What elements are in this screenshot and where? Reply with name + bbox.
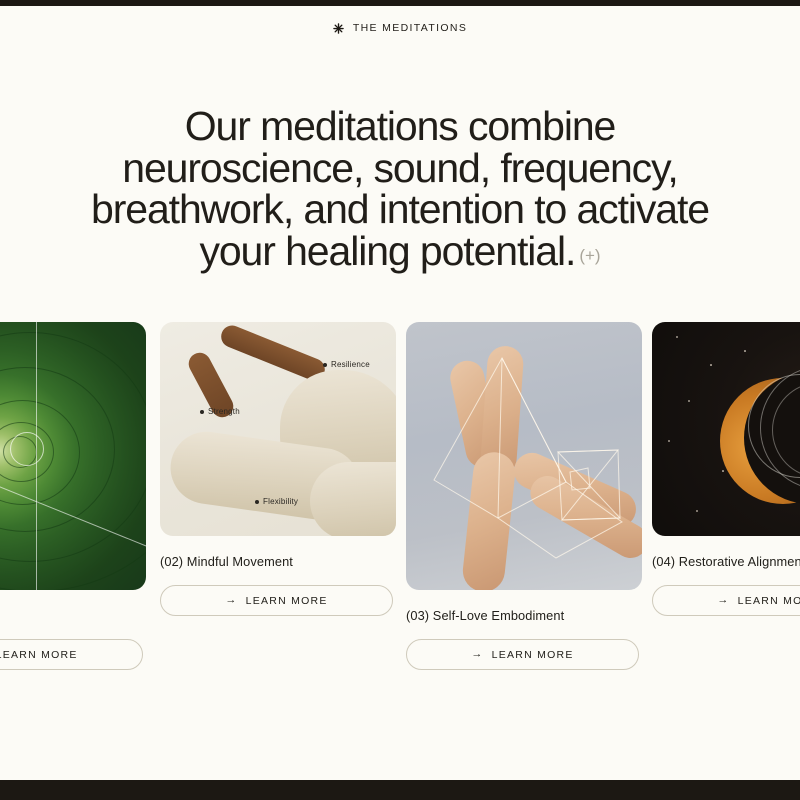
learn-more-button[interactable]: → LEARN MORE [652, 585, 800, 616]
learn-more-label: LEARN MORE [738, 595, 800, 607]
pin-strength: Strength [200, 407, 240, 416]
meditation-card-rail[interactable]: Nourishment → LEARN MORE Resilience [0, 322, 800, 702]
pin-dot-icon [200, 410, 204, 414]
pin-label: Strength [208, 407, 240, 416]
meditation-card[interactable]: Resilience Strength Flexibility (02) Min… [160, 322, 396, 616]
meditation-card[interactable]: Nourishment → LEARN MORE [0, 322, 146, 670]
card-media-self-love [406, 322, 642, 590]
pin-flexibility: Flexibility [255, 497, 298, 506]
card-title: (04) Restorative Alignment [652, 554, 800, 569]
page-title: Our meditations combine neuroscience, so… [60, 106, 740, 276]
green-rosette-photo [0, 322, 146, 590]
pin-resilience: Resilience [323, 360, 370, 369]
card-title: Nourishment [0, 608, 146, 623]
arrow-right-icon: → [471, 649, 483, 660]
praying-hands-sky-photo [406, 322, 642, 590]
card-title: (03) Self-Love Embodiment [406, 608, 642, 623]
meditation-card[interactable]: (03) Self-Love Embodiment → LEARN MORE [406, 322, 642, 670]
eyebrow-label: THE MEDITATIONS [353, 22, 467, 34]
headline-line-1: Our meditations combine [185, 103, 615, 149]
card-media-mindful-movement: Resilience Strength Flexibility [160, 322, 396, 536]
arrow-right-icon: → [225, 595, 237, 606]
pin-dot-icon [323, 363, 327, 367]
headline-line-3: breathwork, and intention to activate [91, 186, 709, 232]
arrow-right-icon: → [717, 595, 729, 606]
learn-more-label: LEARN MORE [492, 649, 574, 661]
learn-more-label: LEARN MORE [246, 595, 328, 607]
expand-toggle[interactable]: (+) [579, 246, 600, 265]
section-eyebrow: THE MEDITATIONS [0, 22, 800, 34]
learn-more-button[interactable]: → LEARN MORE [406, 639, 639, 670]
pin-label: Resilience [331, 360, 370, 369]
asterisk-icon [333, 23, 344, 34]
meditation-card[interactable]: (04) Restorative Alignment → LEARN MORE [652, 322, 800, 616]
headline-line-2: neuroscience, sound, frequency, [122, 145, 677, 191]
pin-label: Flexibility [263, 497, 298, 506]
card-media-restorative-alignment [652, 322, 800, 536]
page-surface: THE MEDITATIONS Our meditations combine … [0, 6, 800, 780]
pin-dot-icon [255, 500, 259, 504]
card-title: (02) Mindful Movement [160, 554, 396, 569]
card-media-nourishment [0, 322, 146, 590]
learn-more-button[interactable]: → LEARN MORE [0, 639, 143, 670]
learn-more-label: LEARN MORE [0, 649, 78, 661]
headline-line-4: your healing potential. [199, 228, 575, 274]
learn-more-button[interactable]: → LEARN MORE [160, 585, 393, 616]
crescent-moon-night-photo [652, 322, 800, 536]
